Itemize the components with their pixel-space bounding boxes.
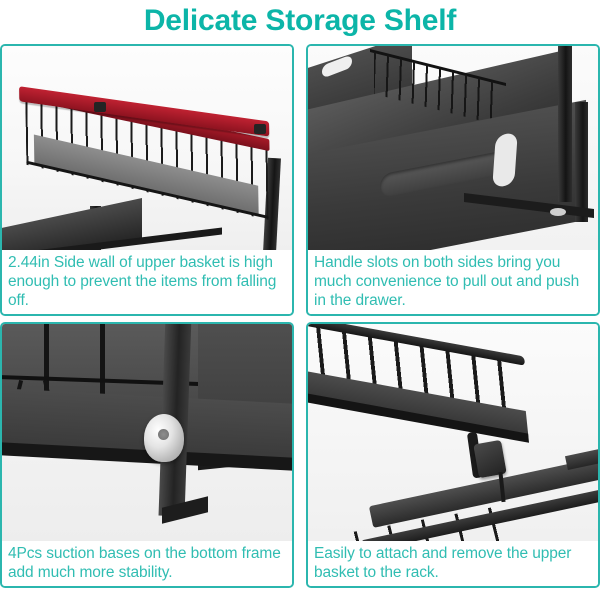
suction-cup-base — [144, 414, 184, 462]
shelf-right-post — [558, 46, 572, 202]
feature-card-attach-remove-basket: Easily to attach and remove the upper ba… — [306, 322, 600, 588]
feature-card-grid: 2.44in Side wall of upper basket is high… — [0, 44, 600, 600]
feature-caption-suction-bases: 4Pcs suction bases on the bottom frame a… — [2, 541, 292, 586]
feature-caption-upper-basket-side-wall: 2.44in Side wall of upper basket is high… — [2, 250, 292, 314]
product-photo-attach-remove-basket — [308, 324, 598, 541]
product-photo-handle-slots — [308, 46, 598, 250]
feature-card-handle-slots: Handle slots on both sides bring you muc… — [306, 44, 600, 316]
basket-clip-right — [254, 124, 266, 134]
product-photo-upper-basket-side-wall — [2, 46, 292, 250]
upper-wire-basket — [308, 324, 535, 459]
feature-caption-attach-remove-basket: Easily to attach and remove the upper ba… — [308, 541, 598, 586]
feature-card-suction-bases: 4Pcs suction bases on the bottom frame a… — [0, 322, 294, 588]
shelf-divider-right — [100, 324, 105, 394]
feature-card-upper-basket-side-wall: 2.44in Side wall of upper basket is high… — [0, 44, 294, 316]
feature-caption-handle-slots: Handle slots on both sides bring you muc… — [308, 250, 598, 314]
product-photo-suction-bases — [2, 324, 292, 541]
upper-wire-basket — [19, 86, 271, 232]
basket-clip-left — [94, 102, 106, 112]
shelf-foot-pad — [550, 208, 566, 216]
page-title: Delicate Storage Shelf — [0, 0, 600, 44]
shelf-right-post-inner — [575, 102, 588, 222]
